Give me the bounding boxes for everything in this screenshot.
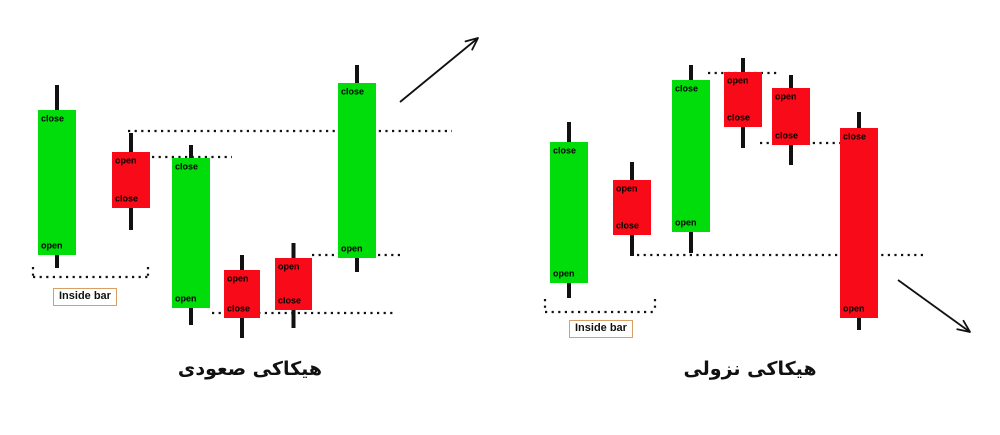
candle-body [550,142,588,283]
candle-6-bearish: closeopen [840,112,878,330]
candle-top-label: open [775,91,797,101]
candle-bottom-label: close [115,193,138,203]
candle-bottom-label: open [675,217,697,227]
bullish-chart-caption: هیکاکی صعودی [0,358,500,380]
candle-top-label: close [41,113,64,123]
candle-body [672,80,710,232]
candle-2-bearish: openclose [112,133,150,230]
candle-bottom-label: open [175,293,197,303]
inside-bar-tag: Inside bar [569,320,633,338]
candle-3-bullish: closeopen [172,145,210,325]
candle-bottom-label: open [843,303,865,313]
candle-body [840,128,878,318]
candle-4-bearish: openclose [224,255,260,338]
bearish-chart-panel: closeopenopenclosecloseopenopencloseopen… [500,0,1000,435]
candle-top-label: close [675,83,698,93]
candle-1-bullish: closeopen [38,85,76,268]
candle-bottom-label: close [616,220,639,230]
candle-bottom-label: close [227,303,250,313]
candle-5-bearish: openclose [275,243,312,328]
candle-top-label: close [553,145,576,155]
candle-bottom-label: close [727,112,750,122]
candle-top-label: close [175,161,198,171]
candle-top-label: open [727,75,749,85]
bearish-candlestick-chart: closeopenopenclosecloseopenopencloseopen… [500,0,1000,360]
candle-4-bearish: openclose [724,58,762,148]
down-trend-arrow [898,280,970,332]
arrow-shaft [400,38,478,102]
candle-bottom-label: close [775,130,798,140]
up-trend-arrow [400,38,478,102]
candle-bottom-label: close [278,295,301,305]
bearish-chart-caption: هیکاکی نزولی [500,358,1000,380]
candle-top-label: close [341,86,364,96]
candle-top-label: close [843,131,866,141]
candle-bottom-label: open [41,240,63,250]
candle-body [172,158,210,308]
candle-5-bearish: openclose [772,75,810,165]
candle-bottom-label: open [553,268,575,278]
inside-bar-tag: Inside bar [53,288,117,306]
candle-body [38,110,76,255]
candle-2-bearish: openclose [613,162,651,256]
candle-body [338,83,376,258]
candle-bottom-label: open [341,243,363,253]
bullish-chart-panel: closeopenopenclosecloseopenopencloseopen… [0,0,500,435]
candle-top-label: open [115,155,137,165]
candle-top-label: open [227,273,249,283]
candle-top-label: open [278,261,300,271]
candle-6-bullish: closeopen [338,65,376,272]
heikin-ashi-figure: closeopenopenclosecloseopenopencloseopen… [0,0,1000,435]
candle-1-bullish: closeopen [550,122,588,298]
candle-top-label: open [616,183,638,193]
arrow-shaft [898,280,970,332]
candle-3-bullish: closeopen [672,65,710,253]
bullish-candlestick-chart: closeopenopenclosecloseopenopencloseopen… [0,0,500,360]
